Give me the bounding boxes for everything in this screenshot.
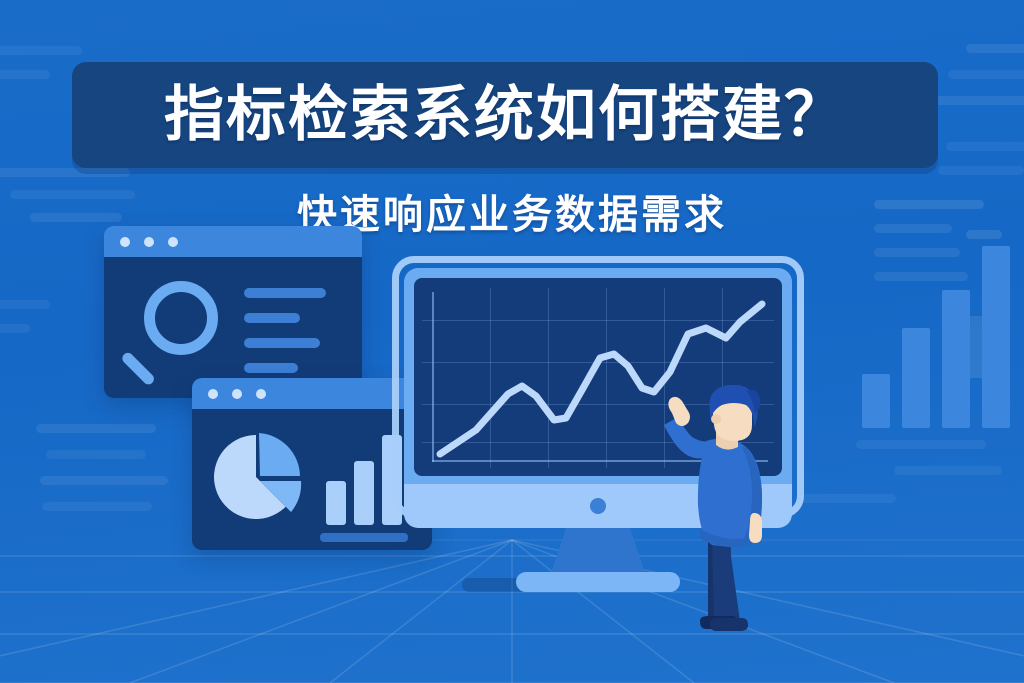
bar-4 bbox=[982, 246, 1010, 428]
window-dot-2 bbox=[232, 389, 242, 399]
window-dot-3 bbox=[256, 389, 266, 399]
bar-3 bbox=[942, 290, 970, 428]
window-dot-1 bbox=[208, 389, 218, 399]
deco-line-l11 bbox=[0, 324, 30, 333]
magnifier-icon bbox=[110, 263, 240, 393]
person-leg-front bbox=[712, 535, 740, 629]
dash-bar-2 bbox=[354, 461, 374, 525]
result-line-1 bbox=[244, 288, 326, 298]
deco-line-l4 bbox=[0, 46, 82, 55]
result-line-2 bbox=[244, 313, 300, 323]
deco-line-l6 bbox=[36, 424, 156, 433]
bar-1 bbox=[862, 374, 890, 428]
deco-line-r5 bbox=[938, 166, 1024, 175]
magnifier-ring bbox=[144, 281, 218, 355]
search-window-card[interactable] bbox=[104, 226, 362, 398]
title-plate: 指标检索系统如何搭建？ bbox=[72, 62, 938, 168]
deco-line-r10 bbox=[874, 272, 968, 281]
person-illustration bbox=[650, 385, 780, 635]
deco-line-r3 bbox=[930, 96, 1024, 105]
deco-line-l7 bbox=[46, 450, 146, 459]
pie-slice-b bbox=[259, 433, 300, 476]
magnifier-handle bbox=[120, 351, 156, 387]
person-ear bbox=[711, 414, 721, 424]
background-bar-chart bbox=[852, 300, 1024, 500]
pie-chart-icon bbox=[208, 429, 304, 525]
deco-line-r4 bbox=[946, 142, 1024, 151]
search-card-titlebar bbox=[104, 226, 362, 257]
deco-line-l10 bbox=[0, 300, 50, 309]
result-line-3 bbox=[244, 338, 320, 348]
deco-line-r1 bbox=[966, 44, 1024, 53]
search-card-body bbox=[104, 257, 362, 398]
poster-canvas: 指标检索系统如何搭建？ 快速响应业务数据需求 bbox=[0, 0, 1024, 683]
dash-bar-baseline bbox=[320, 533, 408, 542]
result-line-4 bbox=[244, 363, 298, 373]
deco-line-l5 bbox=[0, 70, 50, 79]
bar-2 bbox=[902, 328, 930, 428]
dash-bar-1 bbox=[326, 481, 346, 525]
person-shoe-front bbox=[710, 618, 748, 631]
window-dot-1 bbox=[120, 237, 130, 247]
window-dot-3 bbox=[168, 237, 178, 247]
window-dot-2 bbox=[144, 237, 154, 247]
deco-line-r2 bbox=[948, 70, 1024, 79]
deco-line-l9 bbox=[42, 502, 152, 511]
power-led-icon bbox=[590, 498, 606, 514]
page-title: 指标检索系统如何搭建？ bbox=[164, 85, 846, 145]
deco-line-l8 bbox=[40, 476, 168, 485]
person-hand-down bbox=[749, 513, 762, 543]
deco-line-r9 bbox=[874, 248, 960, 257]
deco-line-l1 bbox=[0, 168, 130, 177]
